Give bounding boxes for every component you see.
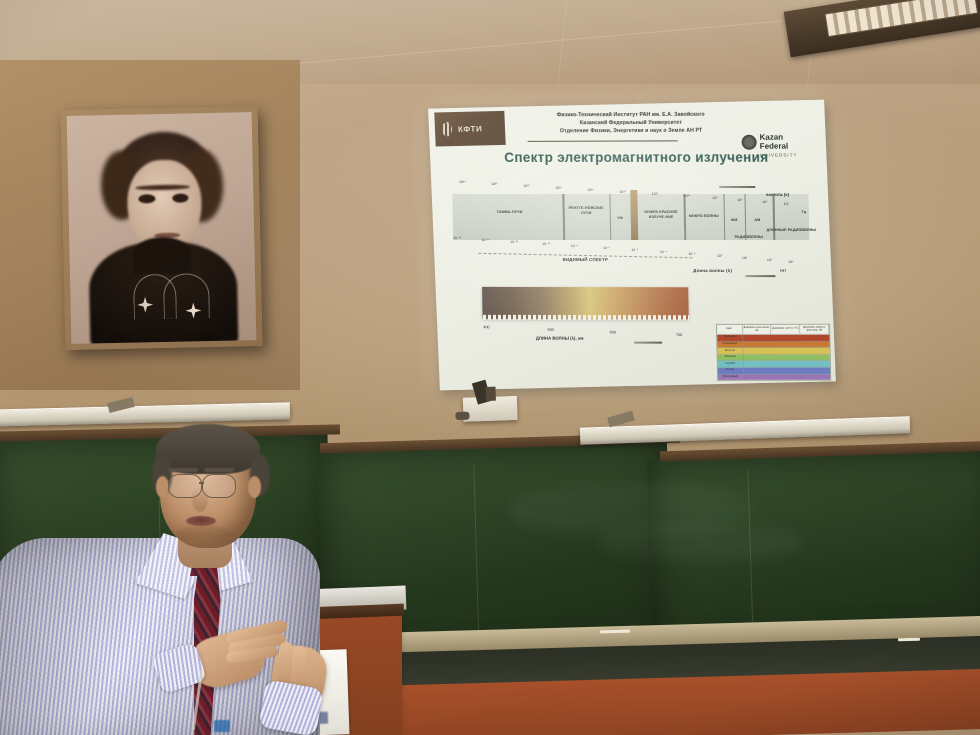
band-label-microwave: МИКРО-ВОЛНЫ xyxy=(688,214,720,219)
wavelength-unit: (м) xyxy=(780,269,786,273)
kfu-logo-line-1: Kazan xyxy=(759,134,783,142)
lecturer-brow-right xyxy=(204,468,234,472)
visible-spectrum-arrow xyxy=(634,342,662,344)
frequency-axis-label: частота (ν) xyxy=(766,192,789,197)
lecturer-ear-right xyxy=(248,476,261,498)
color-table-header-1: Диапазон длин волн, нм xyxy=(743,325,772,334)
ceiling-light-tube xyxy=(824,0,978,37)
table-row: Синий xyxy=(718,367,830,374)
table-row: Красный xyxy=(717,335,829,342)
wave-tick-7: 10⁻⁴ xyxy=(660,250,667,254)
band-label-infrared: ИНФРА-КРАСНОЕ ИЗЛУЧЕ-НИЕ xyxy=(640,210,683,219)
wave-tick-5: 10⁻⁶ xyxy=(603,246,610,250)
freq-tick-9: 10⁶ xyxy=(737,198,742,202)
color-table-header-2: Диапазон частот, ТГц xyxy=(771,325,800,334)
lecturer xyxy=(0,420,340,735)
wave-tick-10: 10² xyxy=(742,256,747,260)
visible-spectrum-axis-label: ДЛИНА ВОЛНЫ (λ), нм xyxy=(536,336,584,341)
band-label-radio: РАДИОВОЛНЫ xyxy=(720,235,777,240)
wavelength-arrow xyxy=(745,275,775,277)
color-table-header-3: Диапазон энергии фотонов, эВ xyxy=(800,325,829,334)
projected-slide: КФТИ Физико-Технический Институт РАН им.… xyxy=(428,100,836,391)
visible-spectrum-label: ВИДИМЫЙ СПЕКТР xyxy=(563,257,609,262)
lecturer-chin-shadow xyxy=(176,526,232,542)
projection-screen: КФТИ Физико-Технический Институт РАН им.… xyxy=(428,100,836,391)
freq-tick-8: 10⁸ xyxy=(712,196,717,200)
visible-tick-400: 400 xyxy=(483,325,489,329)
wave-tick-8: 10⁻² xyxy=(688,252,695,256)
color-table: Цвет Диапазон длин волн, нм Диапазон час… xyxy=(716,324,831,381)
table-row: Оранжевый xyxy=(717,341,829,348)
color-table-header-0: Цвет xyxy=(717,325,743,334)
band-label-fm: ФМ xyxy=(727,218,741,223)
freq-tick-0: 10²⁴ xyxy=(459,180,465,184)
color-name-red: Красный xyxy=(717,335,743,341)
color-name-yellow: Жёлтый xyxy=(717,348,743,354)
wave-tick-4: 10⁻⁸ xyxy=(571,244,578,248)
lecturer-hair xyxy=(156,424,260,474)
band-label-am: АМ xyxy=(750,218,764,223)
freq-tick-4: 10¹⁶ xyxy=(588,188,594,192)
projector-cable xyxy=(455,412,469,420)
freq-tick-1: 10²² xyxy=(491,182,497,186)
wave-tick-9: 10⁰ xyxy=(717,254,722,258)
wavelength-axis-label: Длина волны (λ) xyxy=(693,268,732,273)
color-name-blue: Синий xyxy=(718,368,744,374)
slide-header-line-3: Отделение Физики, Энергетики и наук о Зе… xyxy=(513,127,749,136)
frequency-arrow xyxy=(719,186,755,188)
band-label-uv: УФ xyxy=(611,216,629,221)
freq-tick-3: 10¹⁸ xyxy=(555,186,561,190)
wave-tick-1: 10⁻¹⁴ xyxy=(482,238,490,242)
color-name-orange: Оранжевый xyxy=(717,341,743,347)
visible-spectrum-ruler xyxy=(483,315,689,320)
lecturer-nose xyxy=(192,486,208,512)
wave-tick-2: 10⁻¹² xyxy=(510,240,518,244)
wave-tick-12: 10⁶ xyxy=(788,260,793,264)
chalk-piece xyxy=(898,638,920,642)
portrait-image xyxy=(67,112,257,344)
kfti-logo: КФТИ xyxy=(434,111,505,147)
freq-tick-7: 10¹⁰ xyxy=(684,194,690,198)
kfti-label: КФТИ xyxy=(458,124,483,134)
lecturer-mouth xyxy=(186,516,216,526)
visible-tick-600: 600 xyxy=(610,330,616,334)
framed-portrait xyxy=(61,106,263,350)
color-name-green: Зелёный xyxy=(718,354,744,360)
wave-tick-6: 10⁻⁵ xyxy=(631,248,638,252)
wave-tick-0: 10⁻¹⁶ xyxy=(453,236,461,240)
freq-tick-5: 10¹⁵ xyxy=(620,190,626,194)
freq-tick-6: 10¹² xyxy=(652,192,658,196)
wave-tick-11: 10⁴ xyxy=(767,258,772,262)
slide-title: Спектр электромагнитного излучения xyxy=(476,150,796,165)
glasses-bridge xyxy=(199,482,204,484)
table-row: Фиолетовый xyxy=(718,374,830,380)
frequency-unit: Гц xyxy=(802,210,806,214)
lecture-hall-photo: КФТИ Физико-Технический Институт РАН им.… xyxy=(0,0,980,735)
band-label-xray: РЕНТГЕ-НОВСКИЕ ЛУЧИ xyxy=(566,206,605,215)
kfti-mark-icon xyxy=(439,119,456,139)
color-table-header-row: Цвет Диапазон длин волн, нм Диапазон час… xyxy=(717,325,829,335)
shirt-cuff-right xyxy=(258,679,323,735)
header-divider xyxy=(528,140,678,142)
id-badge xyxy=(214,720,230,732)
overhead-projector xyxy=(454,380,517,424)
freq-tick-10: 10⁴ xyxy=(762,200,767,204)
table-row: Зелёный xyxy=(718,354,830,361)
uv-column xyxy=(630,190,638,240)
kfu-seal-icon xyxy=(741,135,756,150)
table-row: Жёлтый xyxy=(717,348,829,355)
visible-tick-700: 700 xyxy=(676,333,682,337)
color-name-violet: Фиолетовый xyxy=(718,374,744,380)
band-label-longradio: ДЛИННЫЕ РАДИОВОЛНЫ xyxy=(766,228,816,233)
freq-tick-11: 10² xyxy=(784,202,789,206)
slide-header: Физико-Технический Институт РАН им. Е.А.… xyxy=(513,112,750,136)
visible-tick-500: 500 xyxy=(547,328,553,332)
table-row: Голубой xyxy=(718,361,830,368)
visible-spectrum-callout-left xyxy=(480,257,482,258)
lecturer-brow-left xyxy=(168,468,198,472)
spectrum-diagram: ГАММА-ЛУЧИ РЕНТГЕ-НОВСКИЕ ЛУЧИ УФ ИНФРА-… xyxy=(452,180,810,254)
projector-arm xyxy=(485,387,495,401)
freq-tick-2: 10²⁰ xyxy=(523,184,529,188)
wave-tick-3: 10⁻¹⁰ xyxy=(542,242,550,246)
ceiling-light xyxy=(784,0,980,57)
color-name-cyan: Голубой xyxy=(718,361,744,367)
band-label-gamma: ГАММА-ЛУЧИ xyxy=(467,210,553,215)
